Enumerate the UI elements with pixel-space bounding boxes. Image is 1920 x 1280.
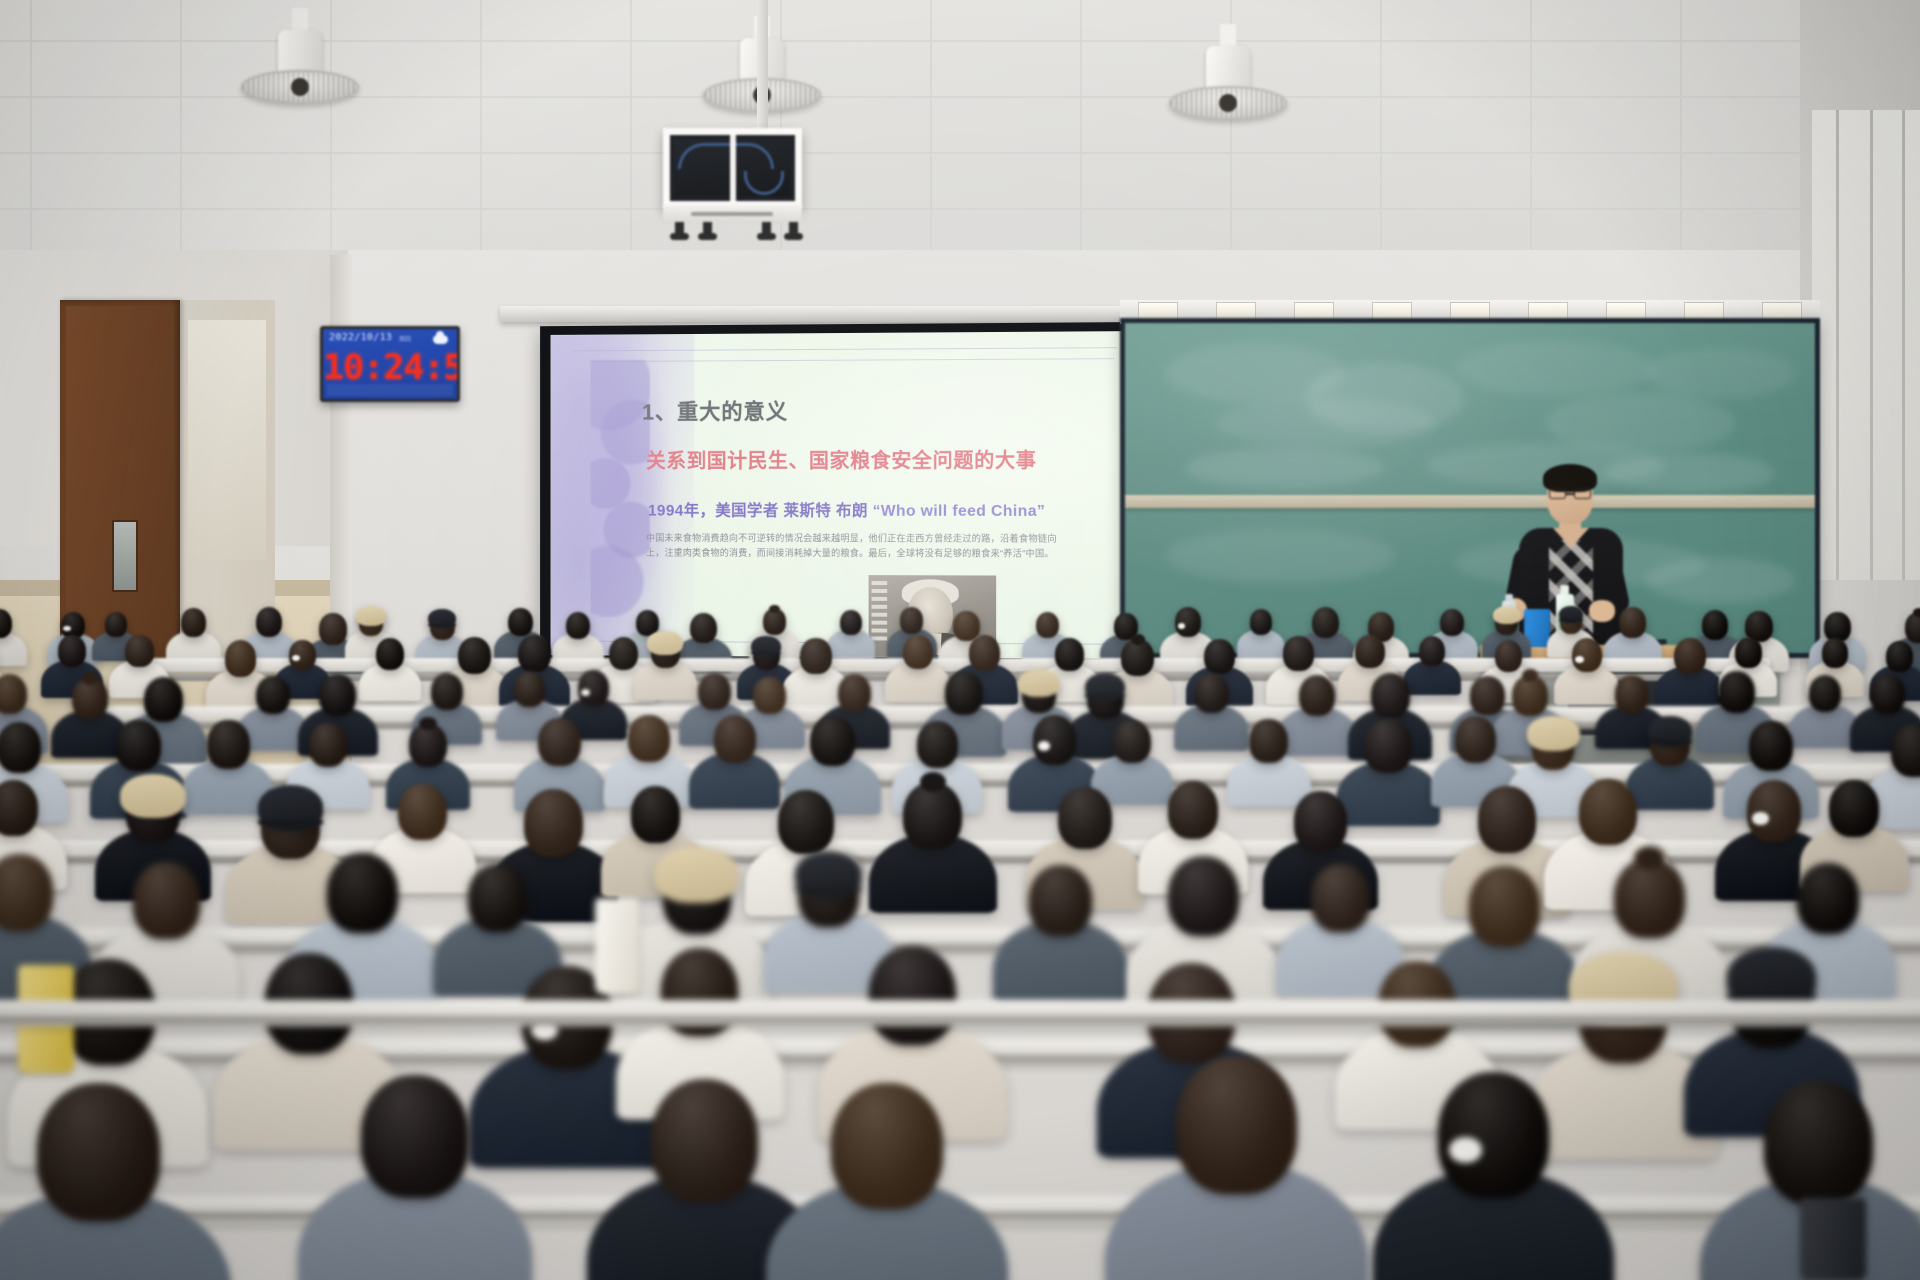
student-head — [309, 723, 348, 767]
student-head — [514, 672, 545, 707]
student-head — [714, 715, 756, 763]
chalk-smudge — [1215, 398, 1435, 448]
student-audience — [0, 600, 1920, 1280]
student-head — [1797, 863, 1859, 934]
student-head — [1747, 780, 1801, 842]
hair-bun — [82, 672, 98, 684]
student-head — [458, 637, 491, 674]
eyeglasses-icon — [1549, 488, 1591, 499]
student-head — [518, 635, 551, 672]
projector-foot — [675, 222, 684, 236]
student-head — [810, 716, 855, 767]
student-head — [1615, 675, 1648, 712]
student-head — [869, 946, 956, 1045]
student-head — [800, 638, 831, 674]
hair-scrunchie — [1575, 656, 1584, 663]
cap-bill — [1559, 619, 1583, 622]
front-bench-rail — [0, 1000, 1920, 1026]
student-head — [256, 607, 283, 637]
student-head — [917, 721, 958, 768]
slide-subheading-cn: 1994年，美国学者 莱斯特 布朗 — [648, 503, 873, 520]
projection-screen-housing — [500, 306, 1140, 322]
slide-title: 1、重大的意义 — [642, 394, 788, 426]
student-head — [1440, 609, 1464, 636]
clock-time: 10:24:57 — [323, 349, 457, 387]
student-head — [1718, 671, 1755, 713]
student-head — [468, 864, 527, 931]
hair-bun — [920, 772, 946, 792]
bucket-hat — [356, 606, 386, 626]
student-head — [1055, 638, 1084, 671]
student-head — [698, 673, 731, 710]
chalk-smudge — [1645, 558, 1795, 603]
student-head — [319, 613, 347, 644]
projector-foot — [762, 222, 771, 236]
door-vision-panel — [112, 520, 138, 592]
student-head — [225, 640, 257, 676]
student-head — [1033, 715, 1076, 764]
hair-scrunchie — [581, 689, 590, 696]
student-head — [1250, 609, 1272, 635]
student-head — [566, 612, 590, 640]
slide-subheading-en: “Who will feed China” — [873, 503, 1046, 520]
hair-scrunchie — [1038, 741, 1051, 751]
slide-subheading: 1994年，美国学者 莱斯特 布朗 “Who will feed China” — [648, 497, 1045, 521]
student-head — [1619, 607, 1646, 638]
projector-foot — [789, 222, 798, 236]
student-head — [1355, 635, 1384, 669]
student-head — [900, 607, 923, 633]
student-head — [0, 722, 41, 773]
student-head — [1204, 639, 1235, 674]
projector-mount-pole — [757, 0, 768, 130]
student-head — [327, 853, 398, 933]
student-head — [1735, 637, 1762, 667]
student-head — [778, 790, 834, 854]
slide-body-text: 中国未来食物消费趋向不可逆转的情况会越来越明显，他们正在走西方曾经走过的路，沿着… — [646, 530, 1075, 561]
bucket-hat — [1018, 669, 1060, 697]
hair-scrunchie — [1178, 623, 1186, 629]
projector-foot — [703, 222, 712, 236]
student-head — [1674, 638, 1706, 674]
chalk-smudge — [1165, 528, 1395, 583]
student-head — [133, 862, 200, 938]
student-head — [1455, 716, 1496, 763]
bucket-hat — [654, 847, 739, 903]
student-head — [1764, 1081, 1873, 1205]
student-head — [524, 789, 583, 857]
student-head — [838, 674, 871, 712]
student-head — [1702, 610, 1728, 640]
clock-date: 2022/10/13 — [329, 332, 392, 343]
student-head — [1478, 786, 1536, 852]
bucket-hat — [1527, 716, 1580, 751]
lecture-hall-photo: 2022/10/13 周四 10:24:57 1、重大的意义 关系到国计民生、国… — [0, 0, 1920, 1280]
student-head — [376, 638, 404, 670]
student-head — [1176, 1056, 1297, 1194]
student-head — [1029, 865, 1092, 936]
clock-weekday: 周四 — [399, 334, 411, 343]
student-head — [37, 1083, 159, 1222]
student-head — [1822, 638, 1848, 668]
white-thermos — [595, 898, 639, 994]
student-head — [1572, 638, 1602, 672]
student-head — [1312, 607, 1339, 638]
student-head — [1371, 673, 1410, 717]
chalk-smudge — [1455, 341, 1655, 396]
student-head — [538, 718, 580, 766]
bucket-hat — [647, 631, 683, 655]
student-head — [105, 612, 127, 637]
student-head — [1749, 721, 1793, 771]
student-head — [1175, 607, 1201, 637]
student-head — [1470, 676, 1505, 715]
student-head — [1886, 641, 1913, 672]
cap-bill — [1648, 740, 1692, 745]
student-head — [1438, 1072, 1549, 1198]
bucket-hat — [120, 774, 186, 818]
student-head — [207, 720, 249, 768]
student-head — [125, 635, 153, 667]
chalk-smudge — [1185, 448, 1385, 488]
student-head — [361, 1075, 469, 1198]
student-head — [840, 610, 862, 635]
projector-base — [663, 205, 802, 223]
chalk-smudge — [1605, 453, 1775, 493]
student-head — [1194, 674, 1229, 713]
student-head — [508, 608, 533, 636]
student-head — [969, 635, 1001, 671]
chalk-smudge — [1645, 348, 1795, 398]
cap-bill — [428, 624, 455, 627]
student-head — [181, 608, 206, 637]
hair-bun — [1522, 669, 1538, 681]
student-head — [1829, 780, 1879, 837]
student-head — [398, 784, 447, 840]
hair-scrunchie — [1449, 1137, 1482, 1162]
student-head — [1294, 791, 1347, 852]
student-head — [319, 674, 356, 716]
hair-bun — [1131, 634, 1145, 645]
chalk-tray — [1125, 495, 1815, 508]
student-head — [631, 786, 681, 843]
student-head — [1579, 779, 1638, 846]
student-head — [753, 677, 785, 714]
student-head — [144, 677, 184, 722]
student-head — [1419, 636, 1446, 666]
student-head — [1168, 856, 1239, 936]
hair-bun — [419, 717, 436, 730]
student-head — [1036, 612, 1059, 638]
student-head — [1299, 675, 1336, 717]
hair-scrunchie — [1752, 812, 1768, 824]
student-head — [1870, 674, 1905, 714]
student-head — [1364, 719, 1412, 773]
cap-bill — [795, 887, 862, 894]
projector-cage — [663, 128, 802, 208]
ceiling-fan — [240, 8, 360, 118]
hair-bun — [1913, 608, 1920, 617]
projector-cable — [678, 143, 774, 169]
student-head — [578, 670, 609, 705]
cap-bill — [1085, 694, 1126, 698]
right-window — [1812, 110, 1920, 580]
student-head — [0, 854, 53, 930]
cage-divider — [730, 135, 736, 201]
student-head — [628, 715, 669, 762]
student-head — [1469, 866, 1540, 947]
student-head — [609, 637, 639, 671]
student-head — [58, 635, 86, 667]
student-head — [1283, 636, 1314, 671]
student-head — [831, 1083, 942, 1210]
student-head — [1113, 720, 1151, 763]
bucket-hat — [1493, 606, 1521, 624]
student-head — [1809, 675, 1842, 712]
hair-bun — [769, 605, 779, 613]
student-head — [116, 720, 160, 771]
student-head — [256, 676, 289, 714]
student-head — [1168, 781, 1218, 838]
student-head — [1058, 787, 1112, 849]
student-head — [903, 635, 933, 670]
student-head — [1249, 719, 1288, 763]
ceiling-fan — [1168, 24, 1288, 134]
student-head — [1495, 640, 1523, 672]
student-head — [651, 1079, 759, 1202]
student-head — [431, 673, 463, 710]
clock-screen: 2022/10/13 周四 10:24:57 — [323, 329, 457, 399]
cloud-icon — [433, 335, 448, 344]
student-head — [1311, 864, 1370, 932]
student-head — [690, 613, 717, 644]
digital-clock-display: 2022/10/13 周四 10:24:57 — [320, 326, 460, 402]
student-head — [945, 671, 983, 715]
slide-heading: 关系到国计民生、国家粮食安全问题的大事 — [646, 443, 1037, 473]
dark-thermos — [1800, 1198, 1866, 1280]
